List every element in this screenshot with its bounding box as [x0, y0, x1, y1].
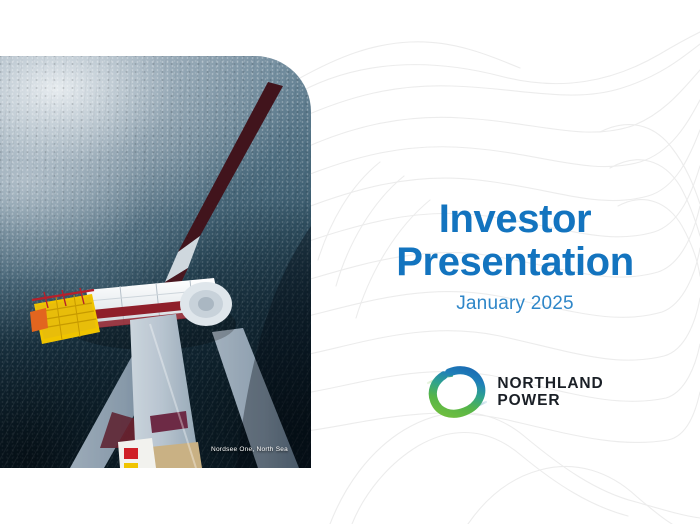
- title-block: Investor Presentation January 2025: [330, 198, 700, 315]
- wind-turbine-illustration: [0, 56, 311, 468]
- logo-wordmark-line1: NORTHLAND: [497, 376, 603, 392]
- title-slide: Nordsee One, North Sea Investor Presenta…: [0, 0, 700, 524]
- northland-power-swirl-icon: [426, 366, 488, 418]
- page-title-line2: Presentation: [330, 241, 700, 284]
- hero-photo: Nordsee One, North Sea: [0, 56, 311, 468]
- logo-wordmark: NORTHLAND POWER: [497, 376, 603, 409]
- logo-wordmark-line2: POWER: [497, 393, 603, 409]
- slide-content: Investor Presentation January 2025: [330, 0, 700, 524]
- page-title-line1: Investor: [330, 198, 700, 241]
- photo-caption: Nordsee One, North Sea: [211, 446, 288, 453]
- company-logo: NORTHLAND POWER: [330, 366, 700, 418]
- page-subtitle: January 2025: [330, 293, 700, 315]
